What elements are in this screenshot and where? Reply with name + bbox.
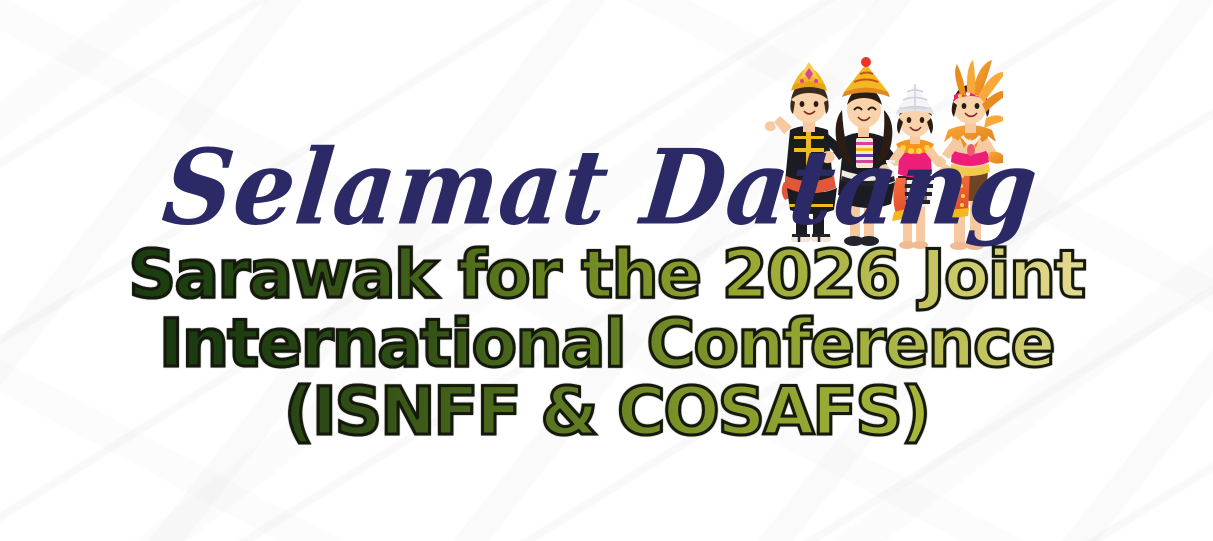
welcome-banner: Selamat Datang Sarawak for the 2026 Join… [0, 0, 1213, 541]
headline-line-1: Sarawak for the 2026 Joint [0, 243, 1213, 308]
dancer-female-conical-hat [822, 57, 906, 246]
script-greeting-line: Selamat Datang [0, 140, 1213, 236]
headline-line-3: (ISNFF & COSAFS) [0, 380, 1213, 445]
white-beaded-headdress [896, 84, 934, 115]
conference-headline: Sarawak for the 2026 Joint International… [0, 243, 1213, 445]
orange-conical-hat [842, 57, 890, 97]
headline-line-2: International Conference [0, 312, 1213, 377]
sarawak-dancers-illustration [758, 52, 1003, 257]
dancer-warrior-feather-headdress [935, 60, 1003, 250]
gold-crown-hat [791, 62, 827, 91]
